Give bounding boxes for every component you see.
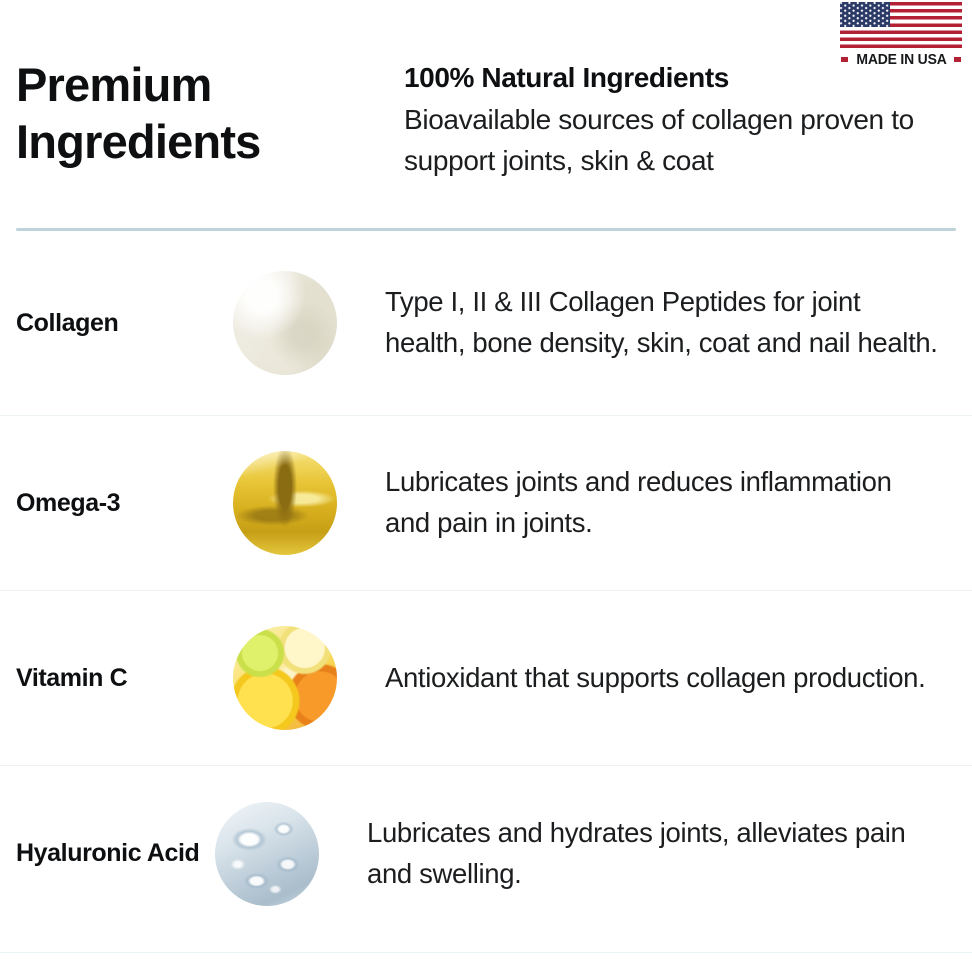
intro-heading: 100% Natural Ingredients: [404, 58, 934, 98]
ingredient-name: Omega-3: [0, 486, 233, 521]
ingredient-name: Vitamin C: [0, 661, 233, 696]
ingredient-thumb-wrap: [233, 451, 385, 555]
ingredients-infographic: MADE IN USA Premium Ingredients 100% Nat…: [0, 0, 972, 959]
ingredient-thumb-wrap: [233, 626, 385, 730]
ingredient-description: Lubricates joints and reduces inflammati…: [385, 462, 972, 543]
ingredient-description: Lubricates and hydrates joints, alleviat…: [367, 813, 972, 894]
list-item: Hyaluronic Acid Lubricates and hydrates …: [0, 766, 972, 941]
ingredient-description: Antioxidant that supports collagen produ…: [385, 658, 972, 699]
ingredient-description: Type I, II & III Collagen Peptides for j…: [385, 282, 972, 363]
ingredient-name: Hyaluronic Acid: [0, 836, 215, 871]
ingredient-list: Collagen Type I, II & III Collagen Pepti…: [0, 231, 972, 941]
ingredient-name: Collagen: [0, 306, 233, 341]
omega-3-oil-image: [233, 451, 337, 555]
intro-block: 100% Natural Ingredients Bioavailable so…: [404, 58, 934, 182]
list-item: Vitamin C Antioxidant that supports coll…: [0, 591, 972, 766]
collagen-powder-image: [233, 271, 337, 375]
footer-divider: [0, 952, 972, 953]
water-droplets-image: [215, 802, 319, 906]
list-item: Collagen Type I, II & III Collagen Pepti…: [0, 231, 972, 416]
page-title: Premium Ingredients: [16, 56, 366, 171]
intro-subtext: Bioavailable sources of collagen proven …: [404, 100, 934, 182]
ingredient-thumb-wrap: [233, 271, 385, 375]
list-item: Omega-3 Lubricates joints and reduces in…: [0, 416, 972, 591]
citrus-fruit-image: [233, 626, 337, 730]
ingredient-thumb-wrap: [215, 802, 367, 906]
header: Premium Ingredients 100% Natural Ingredi…: [0, 0, 972, 218]
